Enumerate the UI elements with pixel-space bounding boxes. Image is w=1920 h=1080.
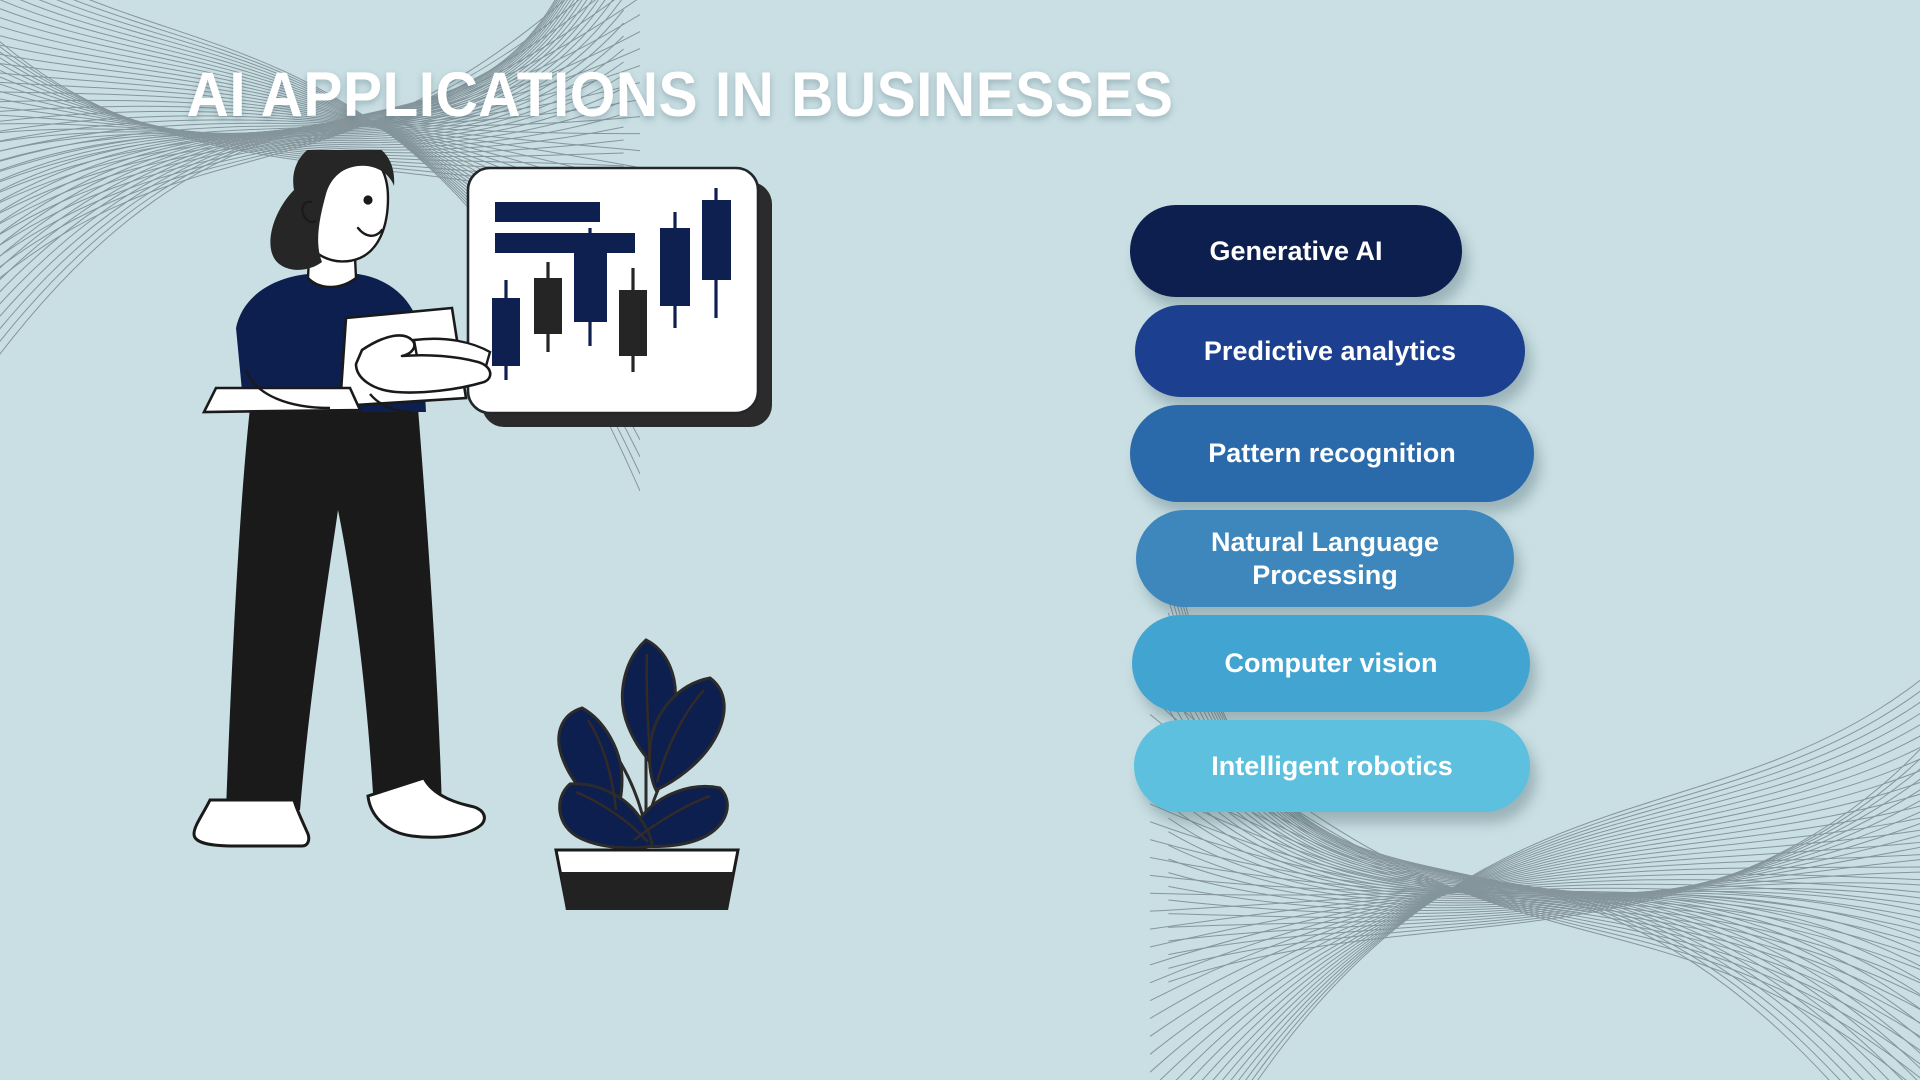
pill-predictive-analytics[interactable]: Predictive analytics bbox=[1135, 305, 1525, 397]
pill-natural-language-processing[interactable]: Natural Language Processing bbox=[1136, 510, 1514, 607]
chart-title-bar-2 bbox=[495, 233, 635, 253]
pot-band bbox=[560, 872, 734, 910]
chart-card bbox=[468, 168, 772, 427]
shoe-left bbox=[194, 800, 309, 846]
eye bbox=[363, 195, 372, 204]
pill-intelligent-robotics[interactable]: Intelligent robotics bbox=[1134, 720, 1530, 812]
pill-pattern-recognition[interactable]: Pattern recognition bbox=[1130, 405, 1534, 502]
flower-pot bbox=[556, 850, 738, 910]
potted-plant bbox=[556, 640, 738, 910]
pill-computer-vision[interactable]: Computer vision bbox=[1132, 615, 1530, 712]
chart-title-bar-1 bbox=[495, 202, 600, 222]
slide-canvas: AI APPLICATIONS IN BUSINESSES bbox=[0, 0, 1920, 1080]
woman-figure bbox=[194, 150, 490, 846]
hero-illustration bbox=[190, 150, 890, 910]
page-title: AI APPLICATIONS IN BUSINESSES bbox=[48, 62, 1313, 128]
pill-generative-ai[interactable]: Generative AI bbox=[1130, 205, 1462, 297]
ai-applications-list: Generative AIPredictive analyticsPattern… bbox=[1130, 205, 1550, 820]
